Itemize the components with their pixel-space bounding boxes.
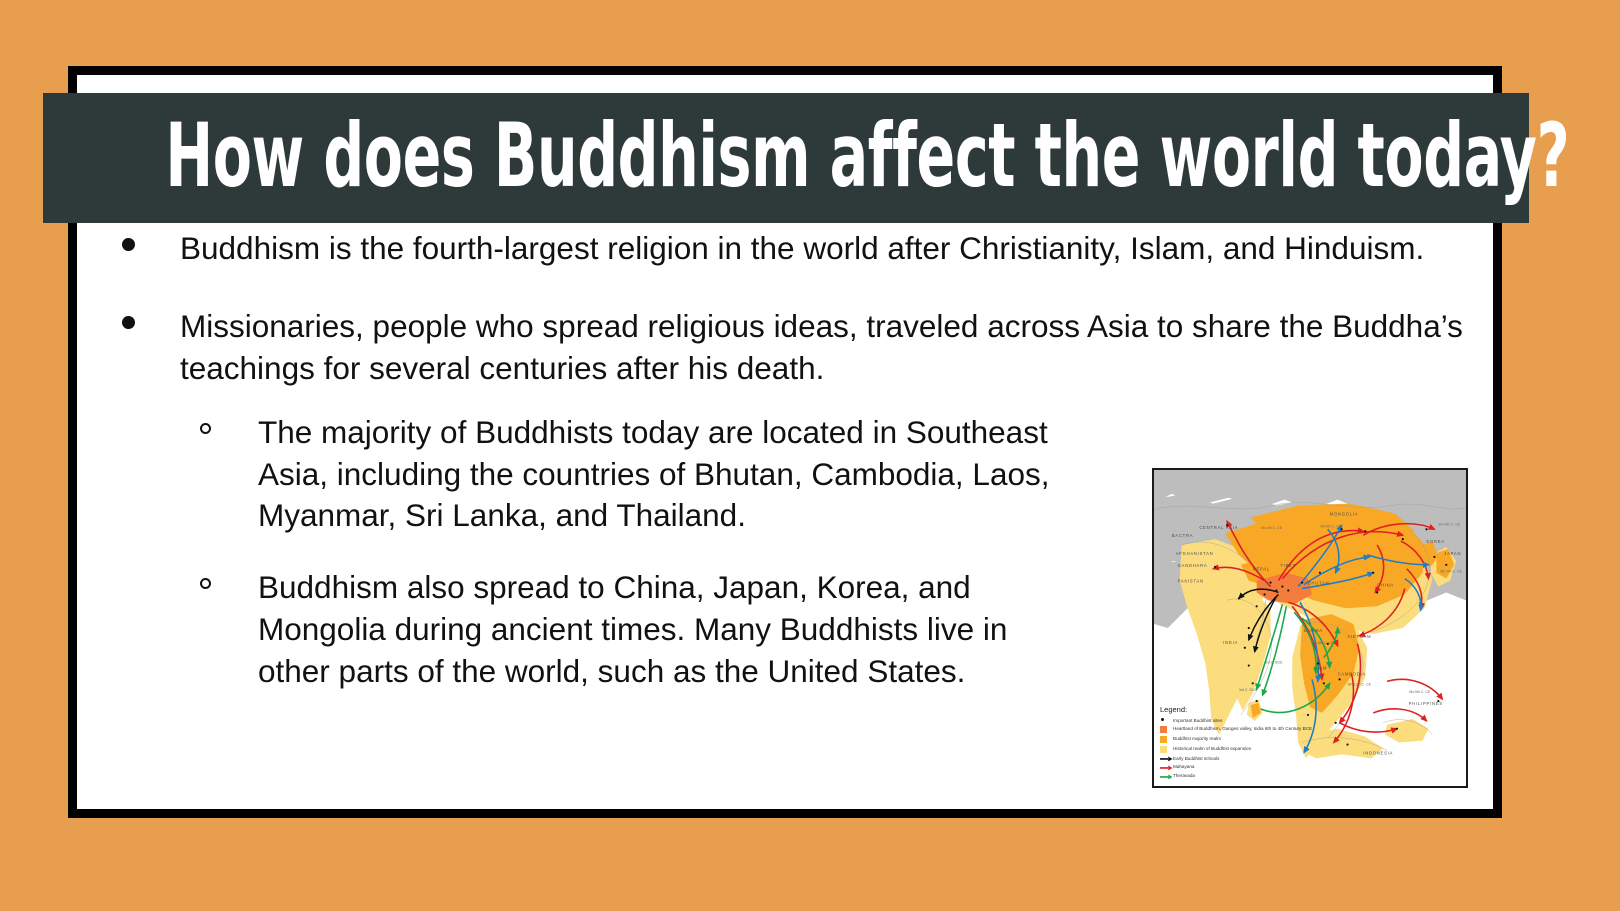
legend-label-mahayana: Mahayana (1173, 764, 1356, 770)
bullet-text-2: Missionaries, people who spread religiou… (180, 308, 1463, 386)
bullet-disc-icon (122, 316, 135, 329)
sub-bullet-text-2: Buddhism also spread to China, Japan, Ko… (258, 569, 1007, 689)
legend-label-early-schools: Early Buddhist schools (1173, 756, 1356, 762)
legend-arrow-black-icon (1160, 756, 1173, 762)
legend-item-early-schools: Early Buddhist schools (1160, 756, 1356, 762)
svg-text:7th-8th C. CE: 7th-8th C. CE (1312, 641, 1334, 645)
svg-text:BURMA: BURMA (1304, 628, 1323, 633)
legend-item-heartland: Heartland of Buddhism, Ganges valley, In… (1160, 726, 1356, 734)
svg-text:INDONESIA: INDONESIA (1363, 750, 1393, 755)
svg-text:3rd C. BCE: 3rd C. BCE (1239, 688, 1258, 692)
legend-label-sites: Important Buddhist sites (1173, 718, 1356, 724)
legend-item-majority: Buddhist majority realm (1160, 736, 1356, 744)
legend-label-theravada: Theravada (1173, 773, 1356, 779)
bullet-text-1: Buddhism is the fourth-largest religion … (180, 230, 1424, 266)
legend-swatch-heartland-icon (1160, 726, 1173, 734)
bullet-circle-icon (200, 578, 211, 589)
bullet-disc-icon (122, 238, 135, 251)
legend-item-expansion: Historical realm of Buddhist expansion (1160, 746, 1356, 754)
buddhism-spread-map: MONGOLIA CENTRAL ASIA BACTRA AFGHANISTAN… (1152, 468, 1468, 788)
svg-text:BHUTAN: BHUTAN (1308, 581, 1329, 586)
legend-swatch-expansion-icon (1160, 746, 1173, 754)
svg-text:4th-5th C. CE: 4th-5th C. CE (1261, 526, 1283, 530)
legend-swatch-majority-icon (1160, 736, 1173, 744)
map-legend: Legend: Important Buddhist sites Heartla… (1160, 705, 1356, 782)
svg-text:BACTRA: BACTRA (1172, 533, 1193, 538)
legend-dot-icon (1160, 718, 1173, 722)
sub-bullet-text-1: The majority of Buddhists today are loca… (258, 414, 1049, 534)
svg-text:NEPAL: NEPAL (1253, 567, 1270, 572)
svg-text:3rd C. BCE: 3rd C. BCE (1265, 661, 1284, 665)
svg-text:VIETNAM: VIETNAM (1348, 634, 1372, 639)
title-band: How does Buddhism affect the world today… (43, 93, 1529, 223)
svg-text:4th-9th C. CE: 4th-9th C. CE (1409, 690, 1431, 694)
svg-text:5th-7th C. CE: 5th-7th C. CE (1440, 570, 1462, 574)
legend-arrow-red-icon (1160, 764, 1173, 770)
bullet-circle-icon (200, 423, 211, 434)
svg-text:PHILIPPINES: PHILIPPINES (1409, 701, 1443, 706)
svg-text:PAKISTAN: PAKISTAN (1178, 579, 1204, 584)
svg-text:MONGOLIA: MONGOLIA (1330, 511, 1359, 516)
svg-text:JAPAN: JAPAN (1444, 551, 1461, 556)
svg-text:KOREA: KOREA (1427, 539, 1445, 544)
svg-text:TIBET: TIBET (1280, 563, 1296, 568)
legend-title: Legend: (1160, 705, 1356, 714)
svg-text:9th-12th C. CE: 9th-12th C. CE (1348, 682, 1372, 686)
legend-label-heartland: Heartland of Buddhism, Ganges valley, In… (1173, 726, 1356, 732)
legend-item-mahayana: Mahayana (1160, 764, 1356, 770)
svg-text:3rd-4th C. CE: 3rd-4th C. CE (1438, 522, 1460, 526)
svg-text:AFGHANISTAN: AFGHANISTAN (1176, 551, 1214, 556)
sub-bullet-item-2: Buddhism also spread to China, Japan, Ko… (180, 567, 1058, 693)
page-title: How does Buddhism affect the world today… (43, 112, 1569, 200)
legend-item-sites: Important Buddhist sites (1160, 718, 1356, 724)
svg-text:4th-5th C. CE: 4th-5th C. CE (1320, 524, 1342, 528)
svg-text:GANDHARA: GANDHARA (1178, 563, 1208, 568)
svg-text:SIAM: SIAM (1314, 665, 1327, 670)
svg-text:CAMBODIA: CAMBODIA (1338, 671, 1366, 676)
slide-canvas: { "theme": { "background": "#e79e4f", "t… (0, 0, 1620, 911)
svg-text:CENTRAL ASIA: CENTRAL ASIA (1199, 525, 1238, 530)
bullet-item-1: Buddhism is the fourth-largest religion … (68, 228, 1470, 270)
legend-label-majority: Buddhist majority realm (1173, 736, 1356, 742)
legend-arrow-green-icon (1160, 773, 1173, 779)
svg-text:INDIA: INDIA (1223, 640, 1238, 645)
svg-text:CHINA: CHINA (1377, 583, 1394, 588)
legend-item-theravada: Theravada (1160, 773, 1356, 779)
sub-bullet-item-1: The majority of Buddhists today are loca… (180, 412, 1058, 538)
legend-label-expansion: Historical realm of Buddhist expansion (1173, 746, 1356, 752)
